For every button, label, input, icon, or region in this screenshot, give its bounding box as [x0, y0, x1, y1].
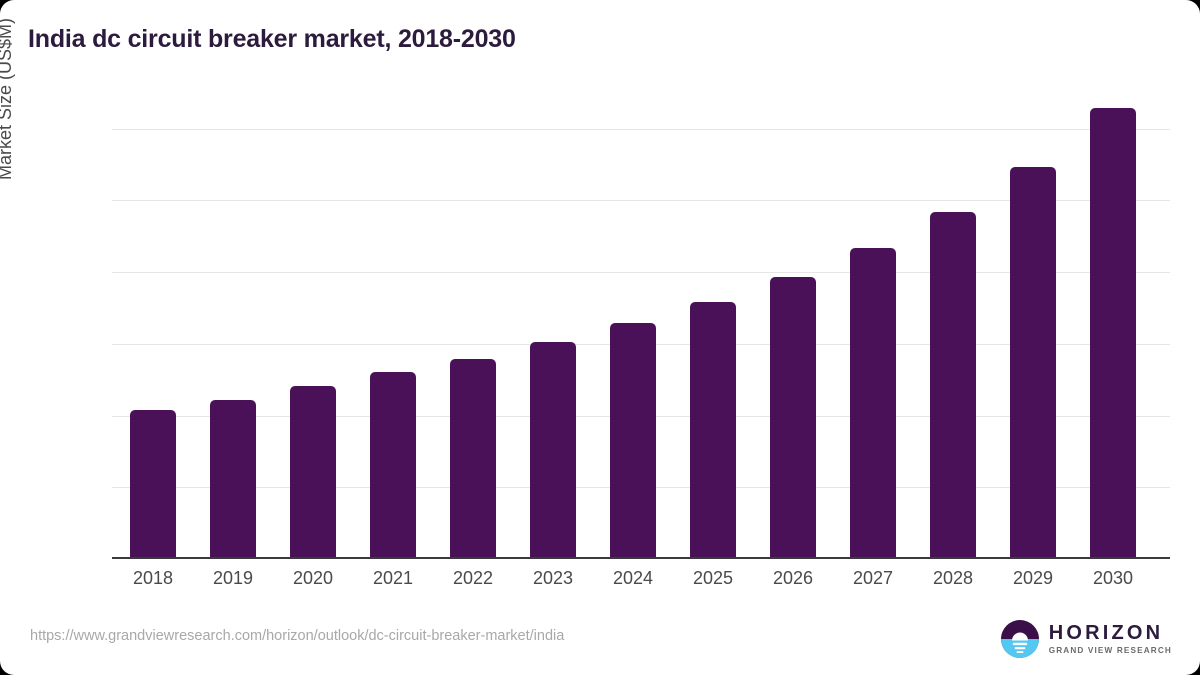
- x-axis-tick-label: 2020: [273, 568, 353, 589]
- horizon-logo[interactable]: HORIZON GRAND VIEW RESEARCH: [1001, 618, 1172, 660]
- bar-2020[interactable]: [290, 386, 336, 558]
- x-axis-tick-label: 2025: [673, 568, 753, 589]
- x-axis-tick-label: 2021: [353, 568, 433, 589]
- x-axis-line: [112, 557, 1170, 559]
- gridline: [112, 129, 1170, 130]
- x-axis-tick-label: 2019: [193, 568, 273, 589]
- bar-2027[interactable]: [850, 248, 896, 558]
- bar-2019[interactable]: [210, 400, 256, 558]
- x-axis-tick-label: 2023: [513, 568, 593, 589]
- bar-2021[interactable]: [370, 372, 416, 558]
- x-axis-tick-label: 2022: [433, 568, 513, 589]
- x-axis-tick-label: 2028: [913, 568, 993, 589]
- bar-2030[interactable]: [1090, 108, 1136, 558]
- logo-wordmark: HORIZON GRAND VIEW RESEARCH: [1049, 623, 1172, 655]
- plot-area: 0100200300400500600 20182019202020212022…: [112, 100, 1170, 559]
- logo-title: HORIZON: [1049, 623, 1172, 643]
- logo-subtitle: GRAND VIEW RESEARCH: [1049, 647, 1172, 655]
- bar-2022[interactable]: [450, 359, 496, 558]
- bar-2028[interactable]: [930, 212, 976, 558]
- horizon-logo-icon: [1001, 620, 1039, 658]
- bar-2018[interactable]: [130, 410, 176, 558]
- source-url[interactable]: https://www.grandviewresearch.com/horizo…: [30, 628, 564, 644]
- bar-2026[interactable]: [770, 277, 816, 558]
- x-axis-tick-label: 2030: [1073, 568, 1153, 589]
- x-axis-tick-label: 2024: [593, 568, 673, 589]
- y-axis-title: Market Size (US$M): [0, 18, 16, 180]
- bar-2029[interactable]: [1010, 167, 1056, 558]
- x-axis-tick-label: 2026: [753, 568, 833, 589]
- x-axis-tick-label: 2018: [113, 568, 193, 589]
- x-axis-tick-label: 2027: [833, 568, 913, 589]
- bar-2023[interactable]: [530, 342, 576, 558]
- bar-2024[interactable]: [610, 323, 656, 558]
- bar-2025[interactable]: [690, 302, 736, 558]
- chart-card: India dc circuit breaker market, 2018-20…: [0, 0, 1200, 675]
- x-axis-tick-label: 2029: [993, 568, 1073, 589]
- page-title: India dc circuit breaker market, 2018-20…: [28, 25, 516, 54]
